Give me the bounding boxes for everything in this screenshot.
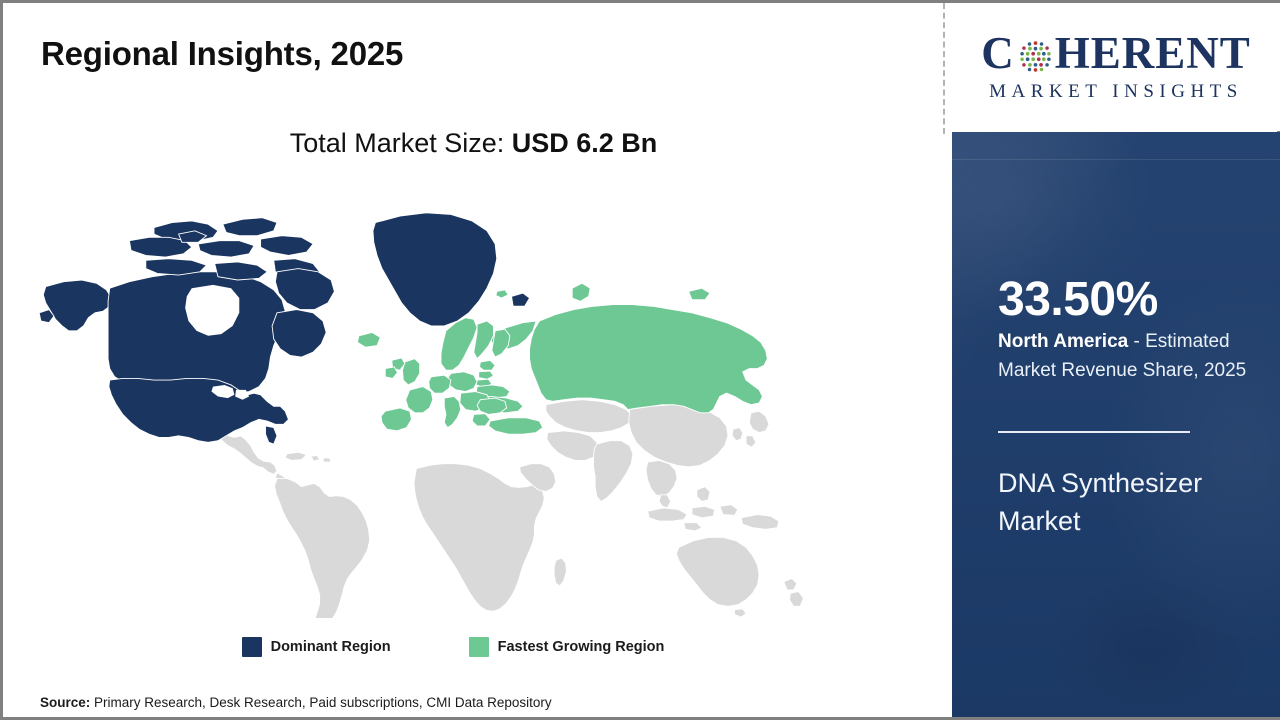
world-map-container: .dom{fill:#1a3560;stroke:#ffffff;stroke-…	[31, 188, 851, 618]
left-content-panel: Regional Insights, 2025 Total Market Siz…	[3, 3, 944, 717]
panel-texture	[952, 132, 1280, 717]
map-legend: Dominant Region Fastest Growing Region	[3, 637, 903, 657]
panel-divider	[998, 431, 1190, 433]
logo-subtitle: MARKET INSIGHTS	[989, 81, 1243, 103]
logo-wordmark: C	[981, 31, 1251, 76]
legend-label-fastest-growing: Fastest Growing Region	[498, 639, 665, 655]
source-label: Source:	[40, 695, 90, 710]
logo-letters-herent: HERENT	[1055, 31, 1251, 76]
legend-item-dominant: Dominant Region	[242, 637, 391, 657]
market-size-value: USD 6.2 Bn	[512, 128, 658, 158]
page-title: Regional Insights, 2025	[41, 35, 403, 73]
panel-faint-line	[952, 159, 1280, 160]
vertical-dashed-divider	[943, 3, 945, 134]
stat-region: North America	[998, 331, 1128, 352]
source-note: Source: Primary Research, Desk Research,…	[40, 695, 552, 710]
total-market-size: Total Market Size: USD 6.2 Bn	[3, 128, 944, 159]
infographic-frame: Regional Insights, 2025 Total Market Siz…	[0, 0, 1280, 720]
info-panel: 33.50% North America - Estimated Market …	[952, 132, 1280, 717]
globe-dots-icon	[1017, 38, 1054, 75]
legend-swatch-fastest-growing	[469, 637, 489, 657]
market-name: DNA Synthesizer Market	[998, 464, 1248, 541]
logo-letter-c: C	[981, 31, 1015, 76]
market-size-label: Total Market Size:	[290, 128, 512, 158]
legend-label-dominant: Dominant Region	[271, 639, 391, 655]
company-logo: C	[952, 3, 1280, 131]
source-text: Primary Research, Desk Research, Paid su…	[90, 695, 551, 710]
legend-swatch-dominant	[242, 637, 262, 657]
stat-percent: 33.50%	[998, 276, 1158, 324]
world-map-svg: .dom{fill:#1a3560;stroke:#ffffff;stroke-…	[31, 188, 851, 618]
legend-item-fastest-growing: Fastest Growing Region	[469, 637, 665, 657]
stat-description: North America - Estimated Market Revenue…	[998, 328, 1266, 386]
